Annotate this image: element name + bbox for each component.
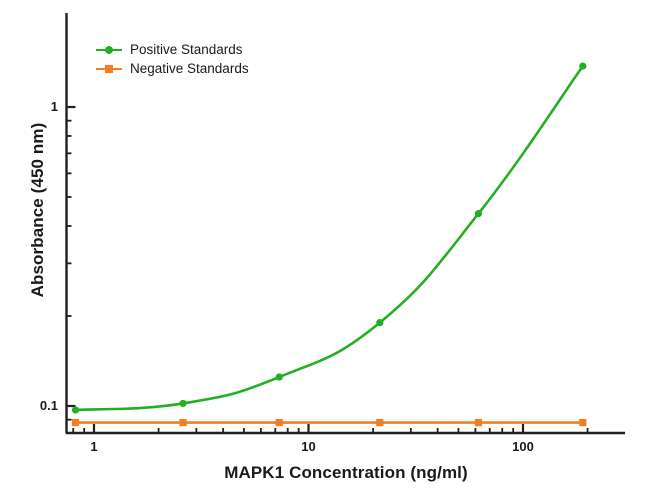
x-axis-ticks	[73, 424, 587, 433]
y-tick-label: 0.1	[6, 398, 58, 413]
legend-marker-negative-icon	[96, 63, 122, 75]
legend-item-positive[interactable]: Positive Standards	[96, 40, 249, 59]
legend-item-negative[interactable]: Negative Standards	[96, 59, 249, 78]
data-point[interactable]	[276, 373, 283, 380]
x-tick-label: 100	[493, 439, 553, 454]
data-point[interactable]	[579, 419, 586, 426]
data-point[interactable]	[475, 210, 482, 217]
chart-legend: Positive Standards Negative Standards	[96, 40, 249, 78]
x-tick-label: 10	[279, 439, 339, 454]
data-point[interactable]	[579, 63, 586, 70]
data-point[interactable]	[72, 419, 79, 426]
legend-marker-positive-icon	[96, 44, 122, 56]
data-point[interactable]	[72, 406, 79, 413]
data-series-layer	[72, 63, 586, 427]
y-tick-label: 1	[6, 99, 58, 114]
data-point[interactable]	[475, 419, 482, 426]
chart-figure: Absorbance (450 nm) MAPK1 Concentration …	[0, 0, 650, 497]
legend-label-positive: Positive Standards	[130, 42, 243, 57]
data-point[interactable]	[376, 419, 383, 426]
legend-label-negative: Negative Standards	[130, 61, 249, 76]
x-tick-label: 1	[64, 439, 124, 454]
y-axis-title: Absorbance (450 nm)	[28, 80, 48, 340]
data-point[interactable]	[376, 319, 383, 326]
y-axis-ticks	[67, 107, 76, 420]
series-positive-standards	[72, 63, 586, 414]
series-line	[76, 66, 583, 410]
data-point[interactable]	[179, 400, 186, 407]
series-negative-standards	[72, 419, 586, 426]
data-point[interactable]	[179, 419, 186, 426]
data-point[interactable]	[276, 419, 283, 426]
x-axis-title: MAPK1 Concentration (ng/ml)	[66, 463, 626, 483]
